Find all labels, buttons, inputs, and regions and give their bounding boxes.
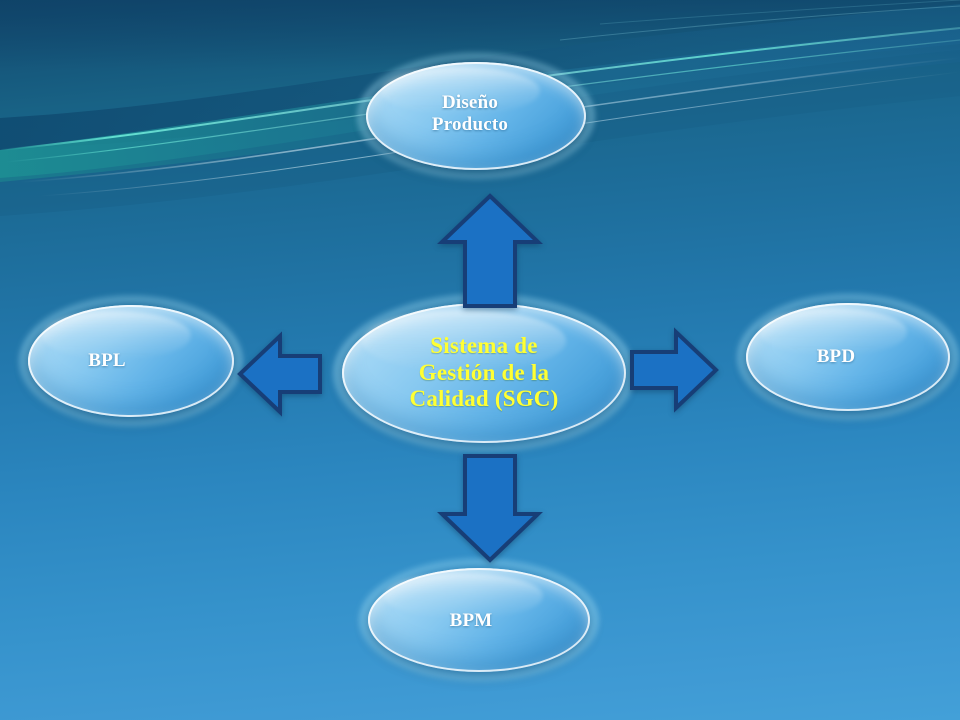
node-label: BPM (450, 610, 493, 632)
node-label: Diseño Producto (432, 92, 508, 136)
node-label: Sistema de Gestión de la Calidad (SGC) (410, 333, 559, 413)
node-label: BPL (88, 350, 126, 372)
node-label: BPD (817, 346, 856, 368)
slide-canvas: Diseño Producto BPD BPM BPL Sistema de G… (0, 0, 960, 720)
node-diseno-producto[interactable]: Diseño Producto (366, 62, 586, 170)
arrow-down-icon (437, 452, 543, 564)
node-sistema-gestion-calidad[interactable]: Sistema de Gestión de la Calidad (SGC) (342, 303, 626, 443)
arrow-up-icon (437, 192, 543, 310)
node-bpl[interactable]: BPL (28, 305, 234, 417)
node-bpd[interactable]: BPD (746, 303, 950, 411)
node-bpm[interactable]: BPM (368, 568, 590, 672)
arrow-right-icon (628, 327, 720, 413)
arrow-left-icon (236, 331, 324, 417)
